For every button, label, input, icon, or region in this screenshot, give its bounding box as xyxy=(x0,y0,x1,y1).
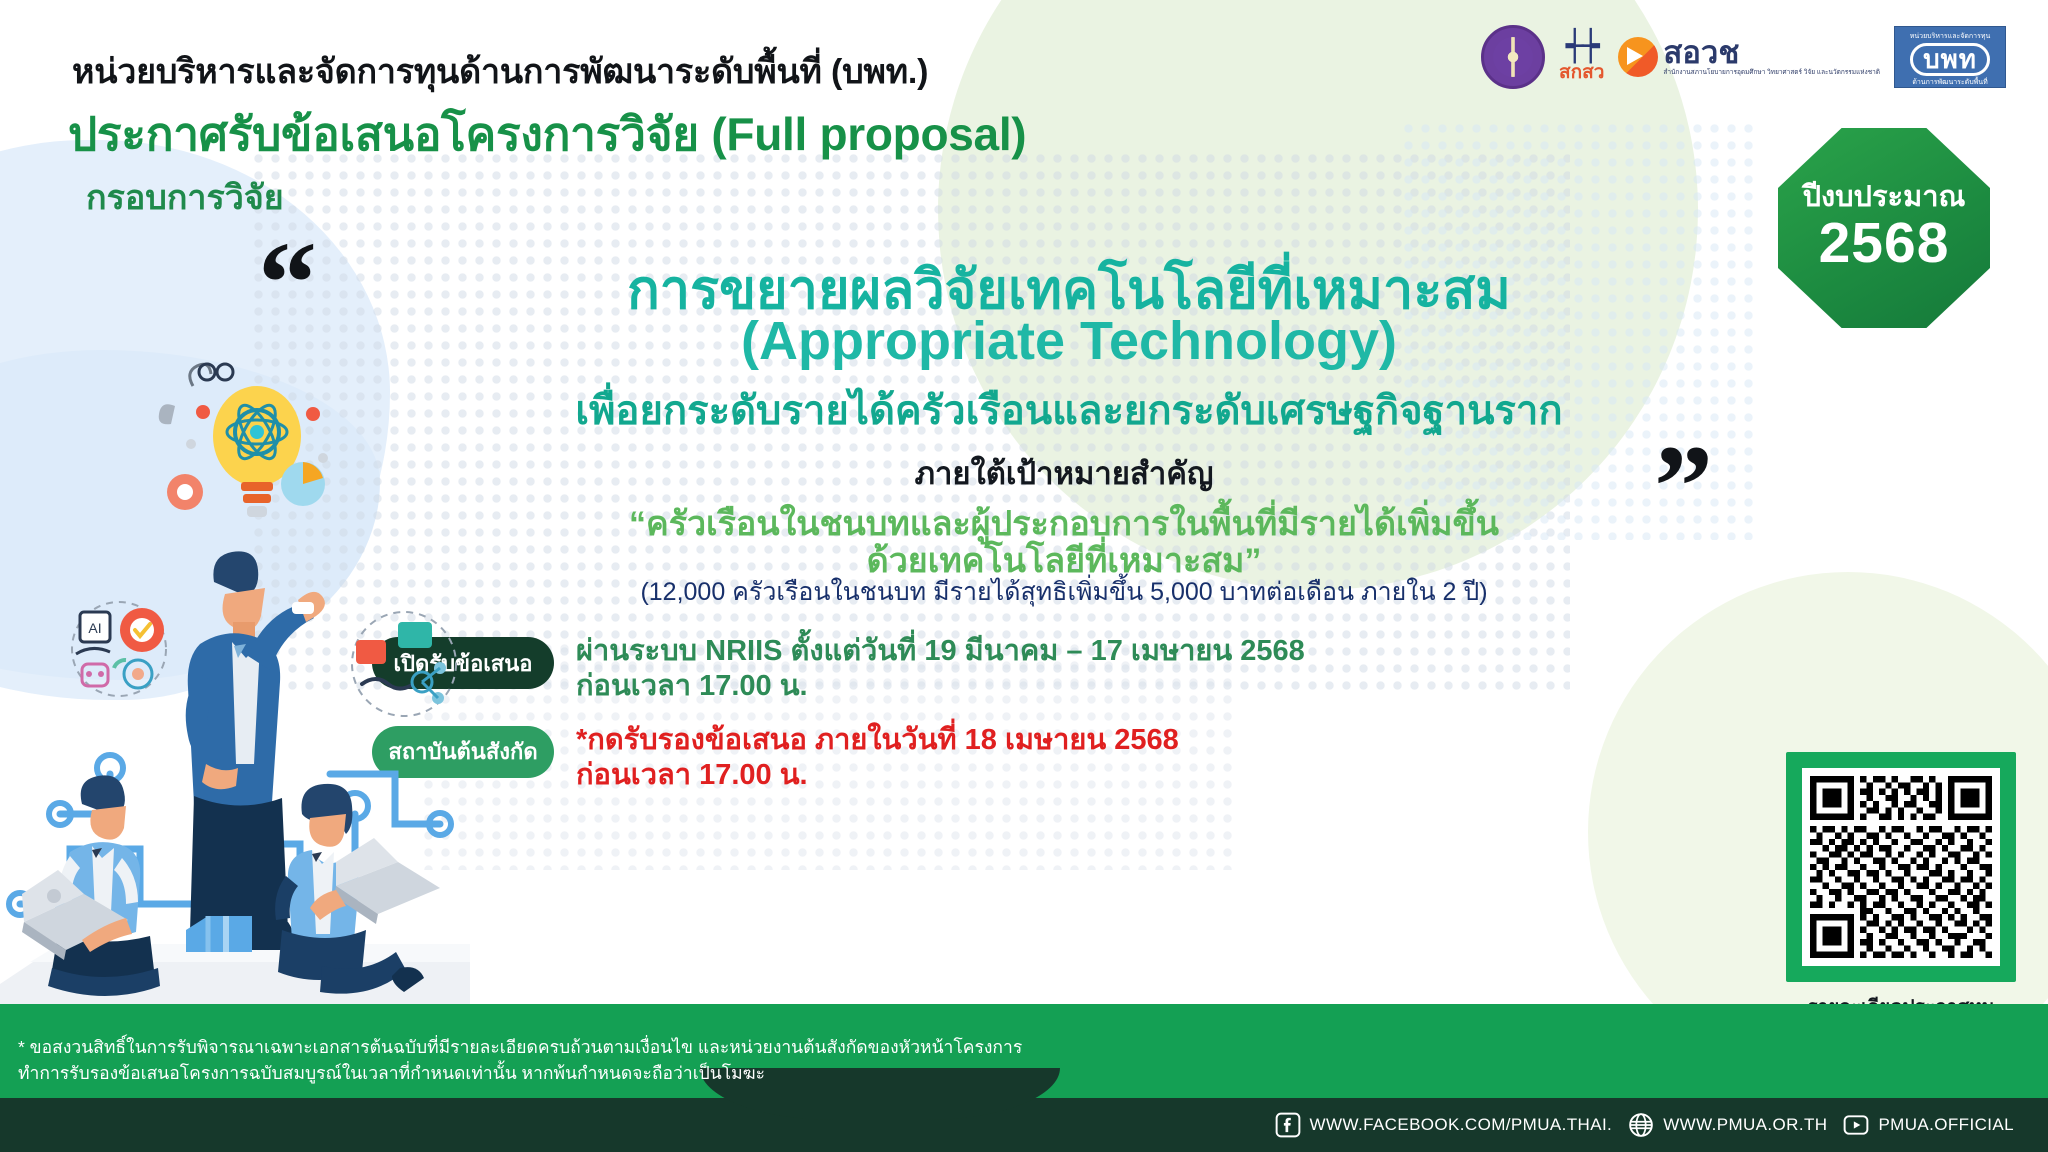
svg-text:AI: AI xyxy=(88,620,101,636)
agency-name: หน่วยบริหารและจัดการทุนด้านการพัฒนาระดับ… xyxy=(72,44,928,98)
poster-root: หน่วยบริหารและจัดการทุนด้านการพัฒนาระดับ… xyxy=(0,0,2048,1152)
open-call-line1: ผ่านระบบ NRIIS ตั้งแต่วันที่ 19 มีนาคม –… xyxy=(576,634,1305,669)
social-links: WWW.FACEBOOK.COM/PMUA.THAI. WWW.PMUA.OR.… xyxy=(1275,1098,2014,1152)
youtube-link[interactable]: PMUA.OFFICIAL xyxy=(1843,1112,2014,1138)
youtube-icon xyxy=(1843,1112,1869,1138)
facebook-url: WWW.FACEBOOK.COM/PMUA.THAI. xyxy=(1310,1115,1613,1135)
qr-code-inner xyxy=(1802,768,2000,966)
pmua-logo: หน่วยบริหารและจัดการทุน บพท ด้านการพัฒนา… xyxy=(1894,26,2006,88)
disclaimer-line-2: ทำการรับรองข้อเสนอโครงการฉบับสมบูรณ์ในเว… xyxy=(18,1061,1138,1086)
qr-code-box[interactable] xyxy=(1786,752,2016,982)
fiscal-year-label: ปีงบประมาณ xyxy=(1803,182,1966,214)
framework-label: กรอบการวิจัย xyxy=(86,170,284,224)
globe-icon xyxy=(1628,1112,1654,1138)
qr-code-icon xyxy=(1810,776,1992,958)
tsri-logo: ┽┾ สกสว xyxy=(1559,32,1604,82)
affiliation-line2: ก่อนเวลา 17.00 น. xyxy=(576,758,1179,793)
youtube-handle: PMUA.OFFICIAL xyxy=(1878,1115,2014,1135)
affiliation-line1: *กดรับรองข้อเสนอ ภายในวันที่ 18 เมษายน 2… xyxy=(576,723,1179,758)
facebook-icon xyxy=(1275,1112,1301,1138)
tsri-label: สกสว xyxy=(1559,63,1604,82)
dates-section: เปิดรับข้อเสนอ ผ่านระบบ NRIIS ตั้งแต่วัน… xyxy=(372,634,1272,812)
date-row: เปิดรับข้อเสนอ ผ่านระบบ NRIIS ตั้งแต่วัน… xyxy=(372,634,1272,705)
open-call-line2: ก่อนเวลา 17.00 น. xyxy=(576,669,1305,704)
sawach-logo: สอวช สำนักงานสภานโยบายการอุดมศึกษา วิทยา… xyxy=(1618,37,1880,77)
pmua-logo-mark: บพท xyxy=(1910,43,1990,76)
sawach-subtitle: สำนักงานสภานโยบายการอุดมศึกษา วิทยาศาสตร… xyxy=(1663,70,1880,77)
pmua-logo-bottom: ด้านการพัฒนาระดับพื้นที่ xyxy=(1895,77,2005,88)
pmua-logo-top: หน่วยบริหารและจัดการทุน xyxy=(1895,31,2005,42)
disclaimer-line-1: * ขอสงวนสิทธิ์ในการรับพิจารณาเฉพาะเอกสาร… xyxy=(18,1035,1138,1060)
sawach-label: สอวช xyxy=(1663,37,1880,68)
tsri-mark-icon: ┽┾ xyxy=(1559,32,1604,62)
illustration-research-team: AI xyxy=(0,344,470,1004)
facebook-link[interactable]: WWW.FACEBOOK.COM/PMUA.THAI. xyxy=(1275,1112,1613,1138)
disclaimer-text: * ขอสงวนสิทธิ์ในการรับพิจารณาเฉพาะเอกสาร… xyxy=(18,1035,1138,1086)
sawach-swoosh-icon xyxy=(1618,37,1658,77)
page-title: ประกาศรับข้อเสนอโครงการวิจัย (Full propo… xyxy=(68,98,1026,171)
website-url: WWW.PMUA.OR.TH xyxy=(1663,1115,1827,1135)
date-row: สถาบันต้นสังกัด *กดรับรองข้อเสนอ ภายในวั… xyxy=(372,723,1272,794)
university-seal-icon xyxy=(1481,25,1545,89)
website-link[interactable]: WWW.PMUA.OR.TH xyxy=(1628,1112,1827,1138)
logo-strip: ┽┾ สกสว สอวช สำนักงานสภานโยบายการอุดมศึก… xyxy=(1481,18,2006,96)
